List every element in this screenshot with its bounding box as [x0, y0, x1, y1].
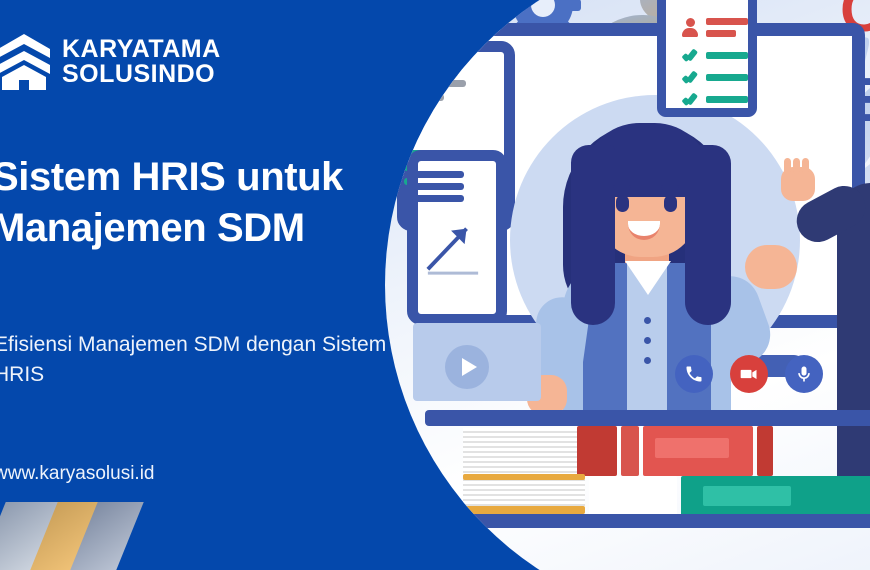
website-url[interactable]: www.karyasolusi.id [0, 463, 155, 485]
brand-logo[interactable]: KARYATAMA SOLUSINDO [0, 34, 221, 90]
clipboard-checklist-icon [657, 0, 757, 117]
play-button-icon[interactable] [445, 345, 489, 389]
book-stack [425, 410, 870, 515]
person-icon [682, 18, 698, 36]
trending-up-arrow-icon [424, 219, 482, 277]
check-icon [682, 92, 697, 107]
video-camera-icon [739, 364, 759, 384]
phone-icon [684, 364, 704, 384]
check-icon [682, 48, 697, 63]
document-card-chart [407, 150, 507, 325]
house-chevron-logo-icon [0, 34, 50, 90]
brand-name-line1: KARYATAMA [62, 37, 221, 63]
brand-name-line2: SOLUSINDO [62, 62, 221, 88]
microphone-button[interactable] [785, 355, 823, 393]
hero-subtitle: Efisiensi Manajemen SDM dengan Sistem HR… [0, 330, 394, 391]
phone-call-button[interactable] [675, 355, 713, 393]
video-call-button[interactable] [730, 355, 768, 393]
raised-hand-icon [745, 245, 797, 289]
hris-marketing-banner: C E [0, 0, 870, 570]
page-title: Sistem HRIS untuk Manajemen SDM [0, 152, 392, 254]
check-icon [682, 70, 697, 85]
illustration-panel: C E [385, 0, 870, 570]
microphone-icon [794, 364, 814, 384]
raised-hand-icon [781, 167, 815, 201]
